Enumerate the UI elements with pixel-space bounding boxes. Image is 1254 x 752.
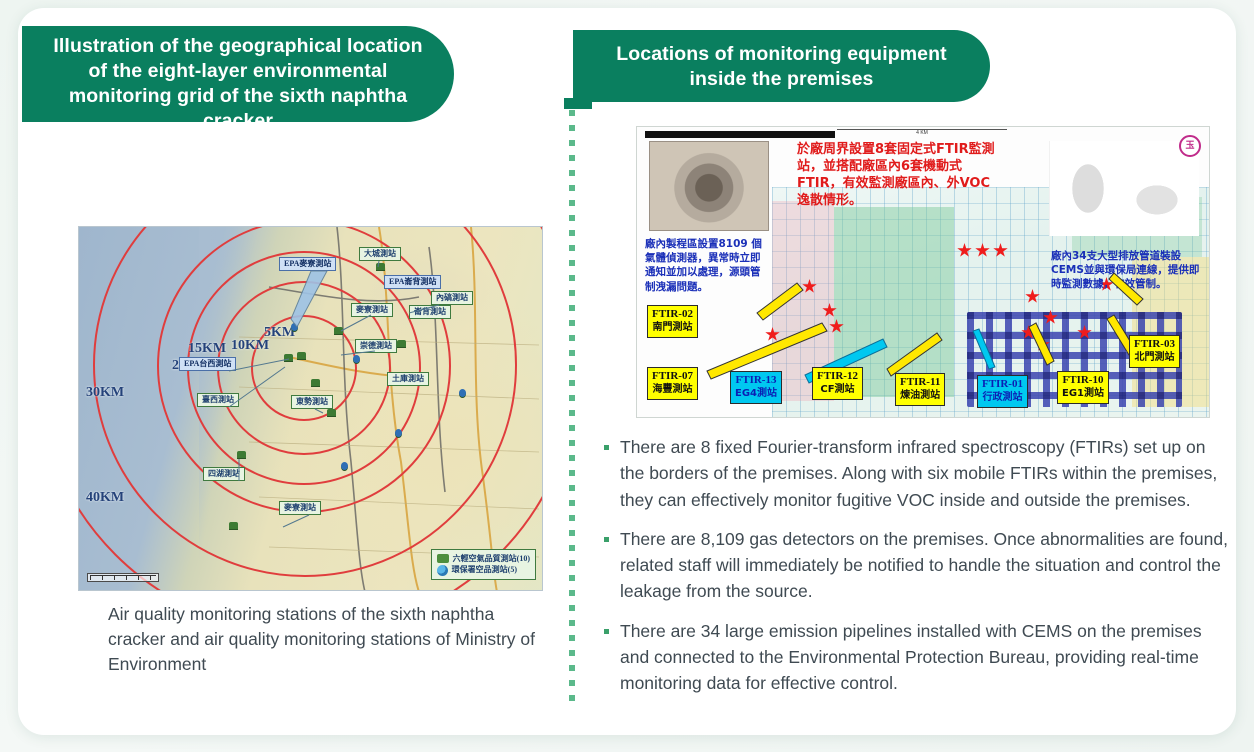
vertical-dotted-divider: [569, 110, 575, 710]
legend-swatch-plant-station-icon: [437, 554, 449, 563]
map-leader-lines: [79, 227, 543, 591]
bullet-marker-icon: [604, 629, 609, 634]
content-card: Illustration of the geographical locatio…: [18, 8, 1236, 735]
left-figure-caption: Air quality monitoring stations of the s…: [108, 602, 548, 677]
slide-page: Illustration of the geographical locatio…: [0, 0, 1254, 752]
ftir-label-ftir-01: FTIR-01 行政測站: [977, 375, 1028, 408]
bullet-marker-icon: [604, 445, 609, 450]
left-panel-header: Illustration of the geographical locatio…: [22, 26, 454, 122]
map-scale-bar: [87, 573, 159, 582]
ftir-label-ftir-11: FTIR-11 煉油測站: [895, 373, 945, 406]
divider-cap: [564, 98, 592, 109]
bullet-text: There are 8,109 gas detectors on the pre…: [620, 526, 1232, 605]
ftir-label-ftir-10: FTIR-10 EG1測站: [1057, 371, 1109, 404]
bullet-list: There are 8 fixed Fourier-transform infr…: [604, 434, 1232, 709]
list-item: There are 8,109 gas detectors on the pre…: [604, 526, 1232, 605]
list-item: There are 34 large emission pipelines in…: [604, 618, 1232, 697]
bullet-text: There are 34 large emission pipelines in…: [620, 618, 1232, 697]
list-item: There are 8 fixed Fourier-transform infr…: [604, 434, 1232, 513]
bullet-marker-icon: [604, 537, 609, 542]
facility-layout-image: 4 KM 玉: [636, 126, 1210, 418]
ftir-label-ftir-03: FTIR-03 北門測站: [1129, 335, 1180, 368]
legend-swatch-epa-station-icon: [437, 565, 448, 576]
legend-item: 環保署空品測站(5): [437, 564, 530, 576]
monitoring-grid-map-image: 5KM 10KM 15KM 20KM 30KM 40KM EPA麥寮測站: [78, 226, 543, 591]
ftir-label-ftir-12: FTIR-12 CF測站: [812, 367, 863, 400]
ftir-label-ftir-07: FTIR-07 海豐測站: [647, 367, 698, 400]
right-panel-header: Locations of monitoring equipment inside…: [573, 30, 990, 102]
map-legend: 六輕空氣品質測站(10) 環保署空品測站(5): [431, 549, 536, 580]
legend-item: 六輕空氣品質測站(10): [437, 553, 530, 565]
bullet-text: There are 8 fixed Fourier-transform infr…: [620, 434, 1232, 513]
ftir-label-ftir-13: FTIR-13 EG4測站: [730, 371, 782, 404]
ftir-label-ftir-02: FTIR-02 南門測站: [647, 305, 698, 338]
